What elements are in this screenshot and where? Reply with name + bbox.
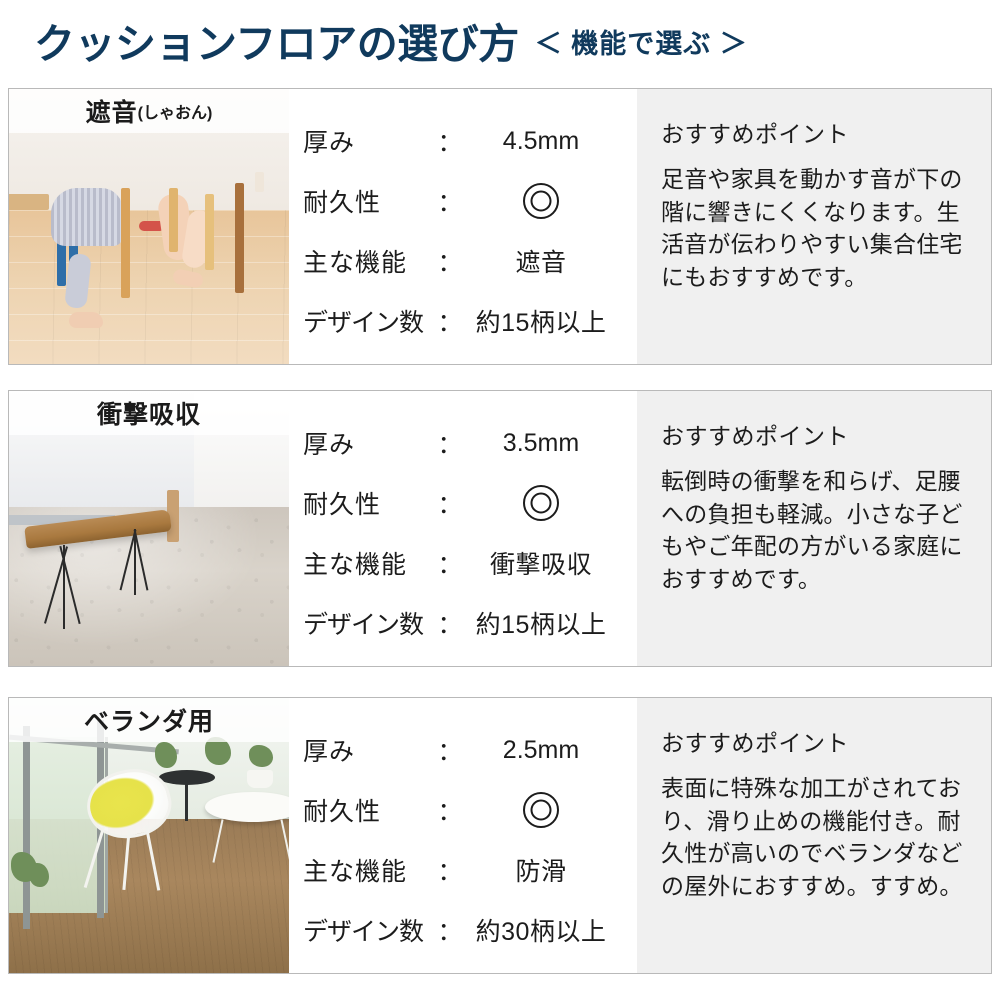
spec-label-function: 主な機能 <box>303 545 437 581</box>
spec-row-durability: 耐久性 ： <box>303 780 637 840</box>
page-title: クッションフロアの選び方 <box>34 24 519 65</box>
spec-value-design-count: 約30柄以上 <box>463 912 637 948</box>
spec-value-design-count: 約15柄以上 <box>463 605 637 641</box>
spec-colon: ： <box>437 485 463 521</box>
product-card: 衝撃吸収 厚み ： 3.5mm 耐久性 ： 主な機能 ： 衝撃吸収 <box>8 390 992 667</box>
spec-label-function: 主な機能 <box>303 852 437 888</box>
spec-row-design-count: デザイン数 ： 約15柄以上 <box>303 291 637 351</box>
recommendation-body: 表面に特殊な加工がされており、滑り止めの機能付き。耐久性が高いのでベランダなどの… <box>661 772 973 903</box>
page-subtitle: ＜ 機能で選ぶ ＞ <box>535 31 748 58</box>
spec-value-durability <box>463 792 637 828</box>
spec-row-thickness: 厚み ： 2.5mm <box>303 720 637 780</box>
spec-value-durability <box>463 183 637 219</box>
spec-value-function: 防滑 <box>463 852 637 888</box>
card-specs: 厚み ： 4.5mm 耐久性 ： 主な機能 ： 遮音 デザイン数 ： 約15柄以… <box>289 89 637 364</box>
card-specs: 厚み ： 3.5mm 耐久性 ： 主な機能 ： 衝撃吸収 デザイン数 ： 約15… <box>289 391 637 666</box>
spec-value-thickness: 4.5mm <box>463 127 637 156</box>
spec-label-thickness: 厚み <box>303 425 437 461</box>
card-photo-label: 衝撃吸収 <box>9 391 289 435</box>
spec-colon: ： <box>437 123 463 159</box>
spec-row-durability: 耐久性 ： <box>303 473 637 533</box>
double-circle-icon <box>523 183 559 219</box>
spec-label-thickness: 厚み <box>303 732 437 768</box>
spec-row-function: 主な機能 ： 衝撃吸収 <box>303 533 637 593</box>
recommendation-body: 転倒時の衝撃を和らげ、足腰への負担も軽減。小さな子どもやご年配の方がいる家庭にお… <box>661 465 973 596</box>
recommendation-heading: おすすめポイント <box>661 724 973 758</box>
spec-colon: ： <box>437 183 463 219</box>
card-photo: 衝撃吸収 <box>9 391 289 666</box>
spec-label-function: 主な機能 <box>303 243 437 279</box>
spec-colon: ： <box>437 303 463 339</box>
spec-colon: ： <box>437 792 463 828</box>
spec-colon: ： <box>437 545 463 581</box>
spec-row-thickness: 厚み ： 3.5mm <box>303 413 637 473</box>
spec-value-design-count: 約15柄以上 <box>463 303 637 339</box>
card-photo: ベランダ用 <box>9 698 289 973</box>
spec-label-design-count: デザイン数 <box>303 303 437 339</box>
spec-colon: ： <box>437 243 463 279</box>
spec-label-durability: 耐久性 <box>303 485 437 521</box>
spec-value-thickness: 2.5mm <box>463 736 637 765</box>
spec-value-durability <box>463 485 637 521</box>
card-photo-label: 遮音 (しゃおん) <box>9 89 289 133</box>
spec-label-durability: 耐久性 <box>303 183 437 219</box>
spec-row-durability: 耐久性 ： <box>303 171 637 231</box>
spec-value-function: 遮音 <box>463 243 637 279</box>
spec-row-thickness: 厚み ： 4.5mm <box>303 111 637 171</box>
card-recommendation: おすすめポイント 表面に特殊な加工がされており、滑り止めの機能付き。耐久性が高い… <box>637 698 991 973</box>
spec-colon: ： <box>437 732 463 768</box>
spec-colon: ： <box>437 425 463 461</box>
card-label-main: 遮音 <box>86 93 138 129</box>
spec-label-thickness: 厚み <box>303 123 437 159</box>
infographic-page: クッションフロアの選び方 ＜ 機能で選ぶ ＞ <box>0 0 1000 1000</box>
spec-label-durability: 耐久性 <box>303 792 437 828</box>
spec-label-design-count: デザイン数 <box>303 605 437 641</box>
double-circle-icon <box>523 792 559 828</box>
recommendation-heading: おすすめポイント <box>661 115 973 149</box>
spec-label-design-count: デザイン数 <box>303 912 437 948</box>
card-photo: 遮音 (しゃおん) <box>9 89 289 364</box>
card-label-sub: (しゃおん) <box>138 99 213 123</box>
card-label-main: 衝撃吸収 <box>97 395 201 431</box>
spec-row-design-count: デザイン数 ： 約15柄以上 <box>303 593 637 653</box>
recommendation-body: 足音や家具を動かす音が下の階に響きにくくなります。生活音が伝わりやすい集合住宅に… <box>661 163 973 294</box>
product-card: 遮音 (しゃおん) 厚み ： 4.5mm 耐久性 ： 主な機能 ： 遮音 <box>8 88 992 365</box>
card-label-main: ベランダ用 <box>84 702 214 738</box>
spec-row-function: 主な機能 ： 防滑 <box>303 840 637 900</box>
spec-row-design-count: デザイン数 ： 約30柄以上 <box>303 900 637 960</box>
product-card: ベランダ用 厚み ： 2.5mm 耐久性 ： 主な機能 ： 防滑 <box>8 697 992 974</box>
card-specs: 厚み ： 2.5mm 耐久性 ： 主な機能 ： 防滑 デザイン数 ： 約30柄以… <box>289 698 637 973</box>
spec-row-function: 主な機能 ： 遮音 <box>303 231 637 291</box>
recommendation-heading: おすすめポイント <box>661 417 973 451</box>
spec-value-function: 衝撃吸収 <box>463 545 637 581</box>
card-recommendation: おすすめポイント 足音や家具を動かす音が下の階に響きにくくなります。生活音が伝わ… <box>637 89 991 364</box>
card-recommendation: おすすめポイント 転倒時の衝撃を和らげ、足腰への負担も軽減。小さな子どもやご年配… <box>637 391 991 666</box>
page-header: クッションフロアの選び方 ＜ 機能で選ぶ ＞ <box>0 0 1000 88</box>
double-circle-icon <box>523 485 559 521</box>
spec-colon: ： <box>437 852 463 888</box>
spec-value-thickness: 3.5mm <box>463 429 637 458</box>
spec-colon: ： <box>437 605 463 641</box>
card-photo-label: ベランダ用 <box>9 698 289 742</box>
spec-colon: ： <box>437 912 463 948</box>
